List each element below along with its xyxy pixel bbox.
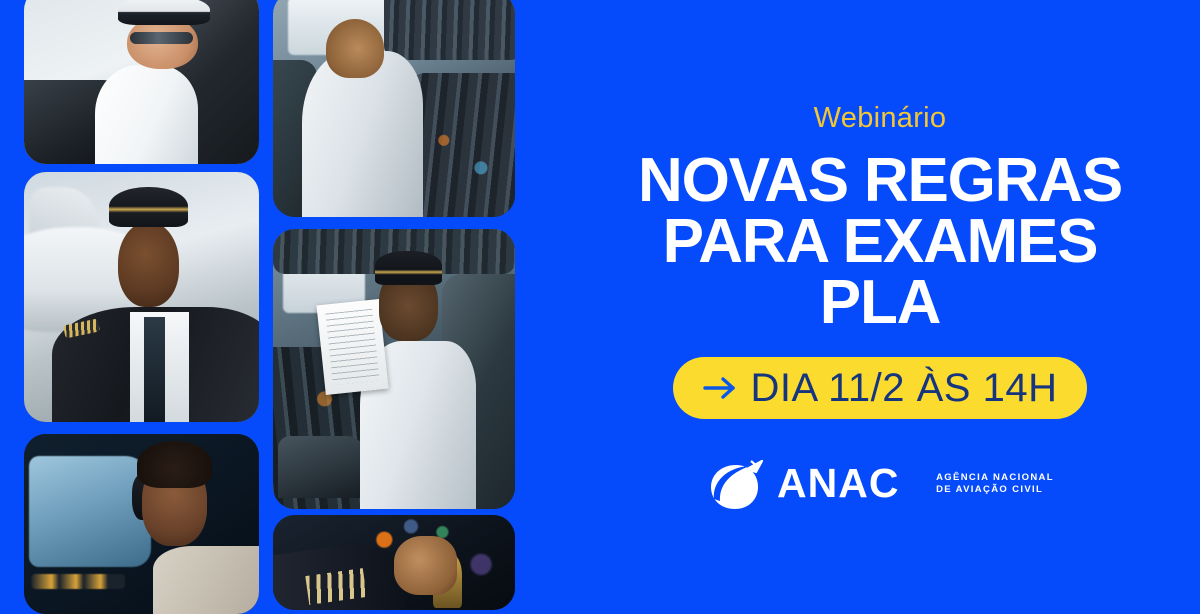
- headline-line-3: PLA: [638, 273, 1122, 334]
- promo-text-panel: Webinário NOVAS REGRAS PARA EXAMES PLA D…: [560, 0, 1200, 600]
- headline-line-2: PARA EXAMES: [638, 212, 1122, 273]
- photo-pilot-uniform-jet: [24, 172, 259, 422]
- anac-tagline-line-1: AGÊNCIA NACIONAL: [936, 472, 1054, 485]
- eyebrow-label: Webinário: [814, 104, 947, 133]
- event-date-cta-button[interactable]: DIA 11/2 ÀS 14H: [673, 357, 1088, 419]
- anac-globe-airplane-icon: [706, 455, 768, 513]
- page-title: NOVAS REGRAS PARA EXAMES PLA: [638, 151, 1122, 333]
- arrow-right-icon: [703, 376, 737, 400]
- photo-female-pilot-night-cockpit: [24, 434, 259, 614]
- photo-captain-sleeve-throttle: [273, 515, 515, 610]
- svg-text:ANAC: ANAC: [777, 462, 899, 506]
- photo-female-pilot-checklist: [273, 229, 515, 509]
- photo-collage: [0, 0, 525, 600]
- photo-pilot-smiling-cockpit: [24, 0, 259, 164]
- collage-column-right: [273, 0, 515, 600]
- anac-wordmark: ANAC: [777, 462, 927, 506]
- headline-line-1: NOVAS REGRAS: [638, 151, 1122, 212]
- photo-pilot-back-controls: [273, 0, 515, 217]
- anac-tagline: AGÊNCIA NACIONAL DE AVIAÇÃO CIVIL: [936, 472, 1054, 497]
- event-date-label: DIA 11/2 ÀS 14H: [751, 368, 1058, 408]
- collage-column-left: [24, 0, 259, 600]
- anac-tagline-line-2: DE AVIAÇÃO CIVIL: [936, 484, 1054, 497]
- anac-logo: ANAC AGÊNCIA NACIONAL DE AVIAÇÃO CIVIL: [706, 455, 1054, 513]
